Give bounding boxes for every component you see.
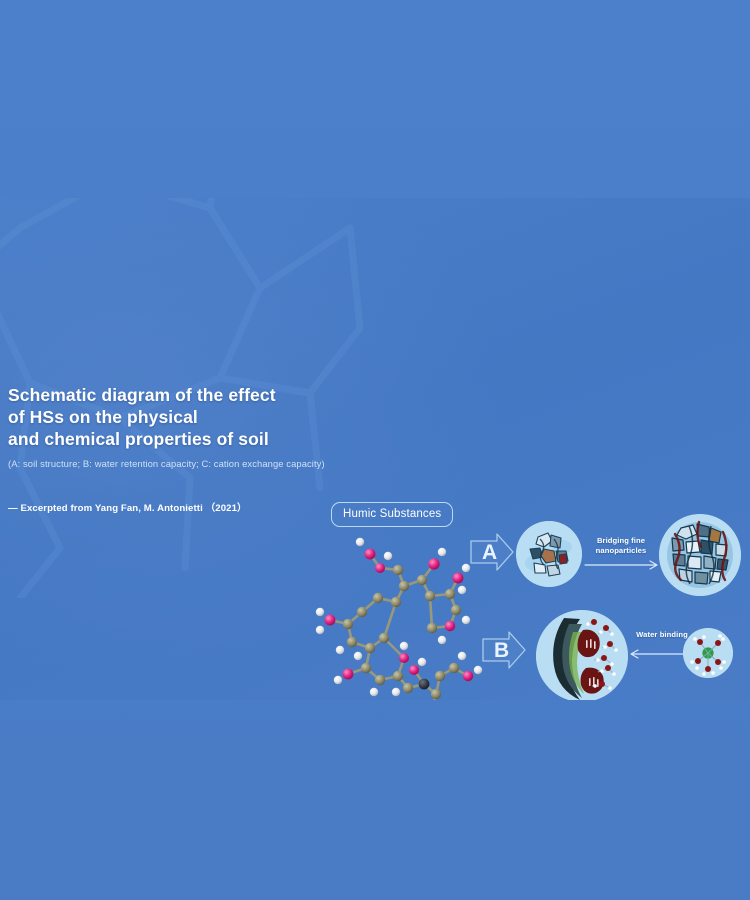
- row-b-marker-letter: B: [494, 639, 509, 662]
- bubble-bridged-soil-aggregate: [659, 514, 741, 596]
- row-a-caption-line-1: Bridging fine: [597, 536, 645, 545]
- row-a-marker-letter: A: [482, 541, 497, 564]
- page-title-line-2: of HSs on the physical: [8, 406, 348, 428]
- row-b-marker-arrow: B: [481, 629, 527, 671]
- row-b-process-arrow: [628, 647, 684, 661]
- page-title-line-1: Schematic diagram of the effect: [8, 384, 348, 406]
- page-title-line-3: and chemical properties of soil: [8, 428, 348, 450]
- legend-text: (A: soil structure; B: water retention c…: [8, 457, 348, 470]
- row-b-caption: Water binding: [630, 630, 694, 640]
- bubble-hydrated-cation: [683, 628, 733, 678]
- row-a-marker-arrow: A: [469, 531, 515, 573]
- bubble-fine-nanoparticles: [516, 521, 582, 587]
- slide-canvas: Schematic diagram of the effect of HSs o…: [0, 0, 750, 900]
- citation-text: — Excerpted from Yang Fan, M. Antonietti…: [8, 500, 348, 514]
- illustration-panel: Schematic diagram of the effect of HSs o…: [0, 198, 750, 700]
- row-a-caption: Bridging fine nanoparticles: [588, 536, 654, 555]
- humic-substance-molecule-model: [300, 528, 490, 700]
- headline-block: Schematic diagram of the effect of HSs o…: [8, 384, 348, 514]
- humic-substances-label: Humic Substances: [331, 502, 453, 527]
- bubble-humic-water-film: [536, 610, 628, 700]
- row-b-caption-line-1: Water binding: [636, 630, 688, 639]
- row-a-process-arrow: [584, 558, 662, 572]
- row-a-caption-line-2: nanoparticles: [596, 546, 647, 555]
